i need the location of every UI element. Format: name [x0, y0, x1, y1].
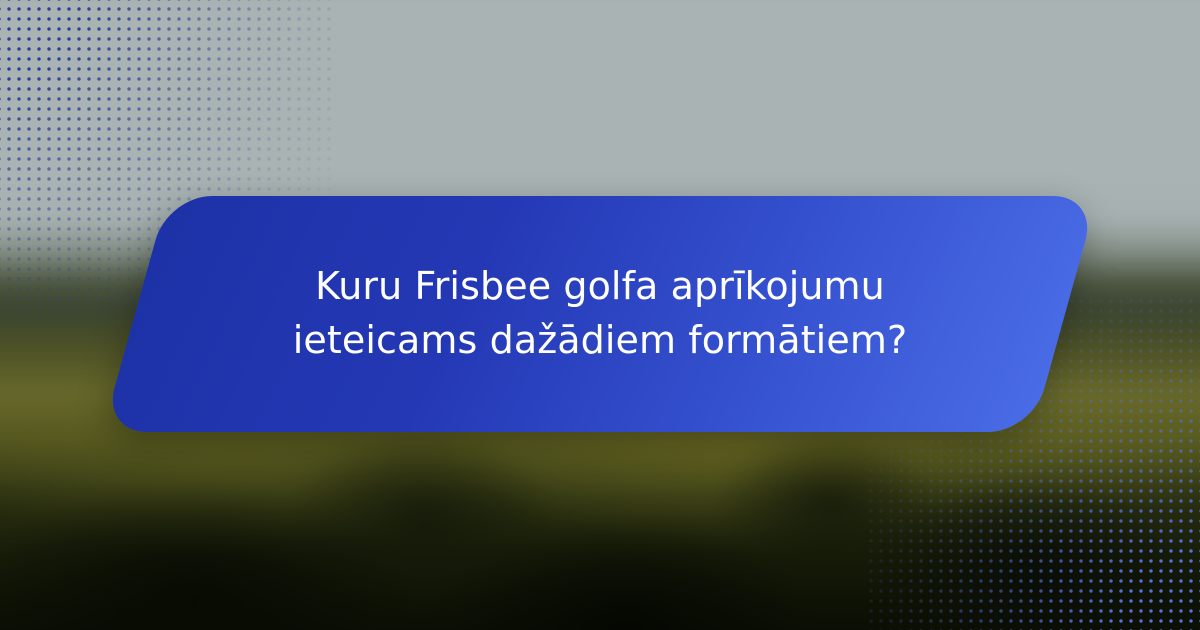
- question-card-container: Kuru Frisbee golfa aprīkojumu ieteicams …: [0, 196, 1200, 432]
- question-card-content: Kuru Frisbee golfa aprīkojumu ieteicams …: [135, 196, 1065, 432]
- question-title: Kuru Frisbee golfa aprīkojumu ieteicams …: [230, 260, 970, 368]
- question-card: Kuru Frisbee golfa aprīkojumu ieteicams …: [102, 196, 1097, 432]
